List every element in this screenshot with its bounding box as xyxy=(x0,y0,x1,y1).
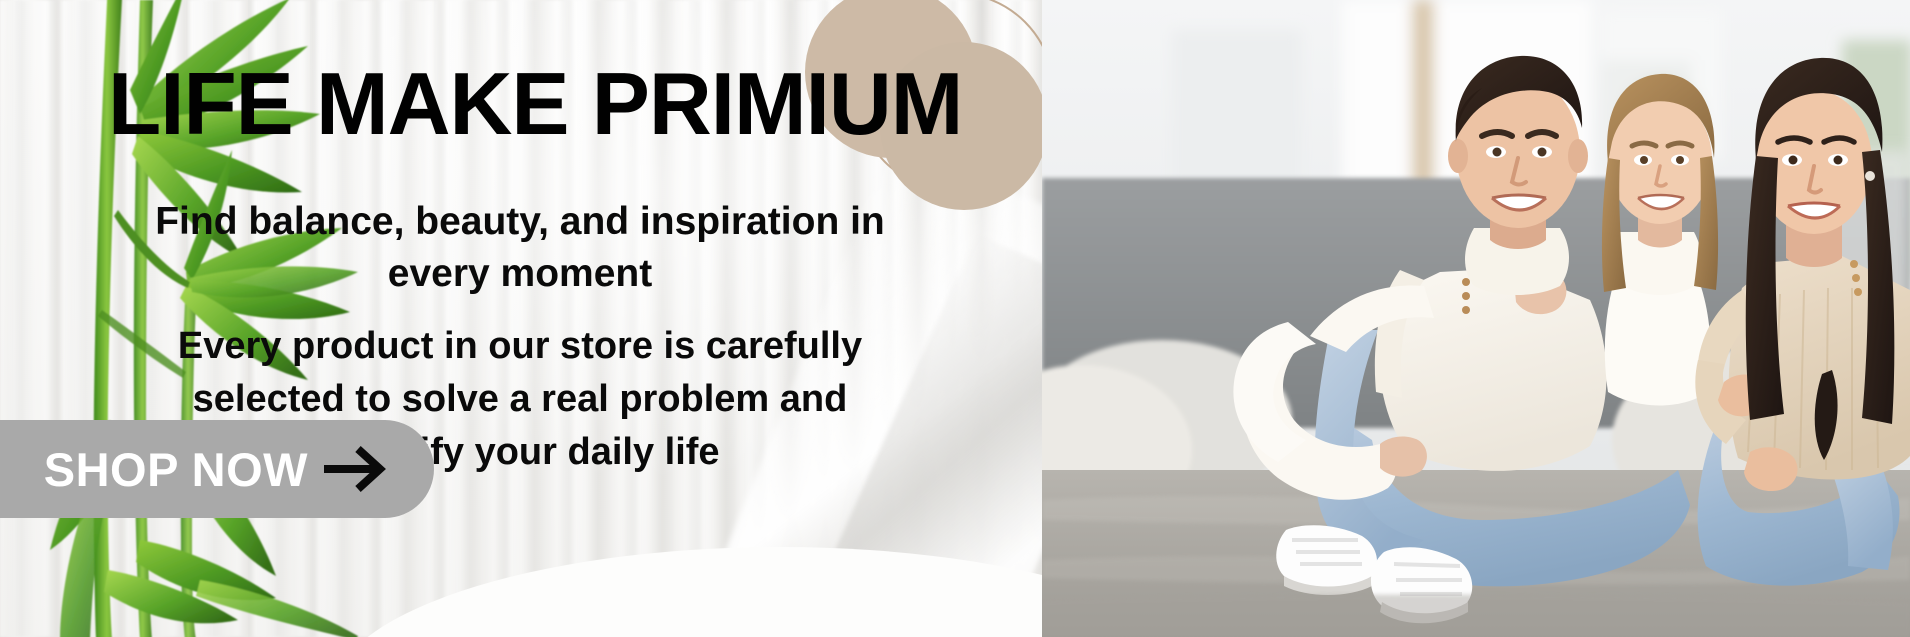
family-photo xyxy=(1042,0,1910,637)
banner-left-panel: LIFE MAKE PRIMIUM Find balance, beauty, … xyxy=(0,0,1042,637)
arrow-right-icon xyxy=(322,441,388,497)
banner-copy: LIFE MAKE PRIMIUM Find balance, beauty, … xyxy=(0,0,1042,637)
subheadline: Find balance, beauty, and inspiration in… xyxy=(150,196,890,300)
promo-banner: LIFE MAKE PRIMIUM Find balance, beauty, … xyxy=(0,0,1910,637)
shop-now-label: SHOP NOW xyxy=(44,446,308,493)
shop-now-button[interactable]: SHOP NOW xyxy=(0,420,434,518)
page-title: LIFE MAKE PRIMIUM xyxy=(108,56,1039,152)
family-photo-illustration xyxy=(1042,0,1910,637)
